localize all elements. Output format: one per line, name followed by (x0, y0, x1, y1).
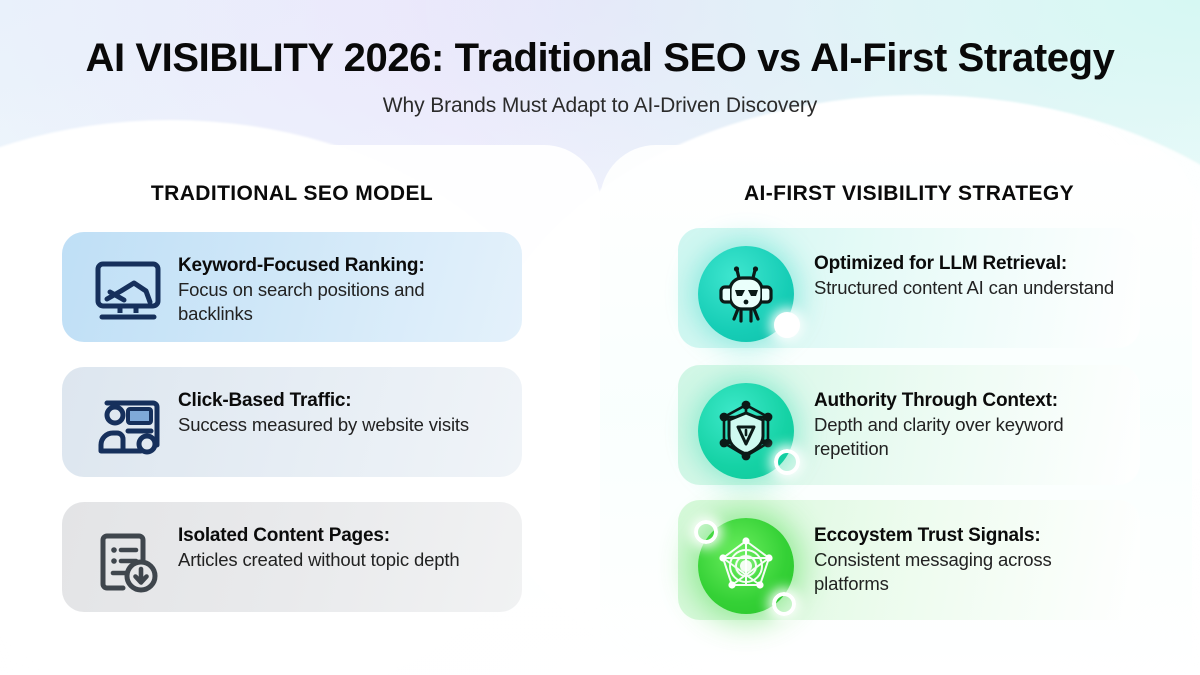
card-title: Eccoystem Trust Signals: (814, 524, 1124, 548)
document-list-download-icon (82, 522, 174, 604)
card-description: Depth and clarity over keyword repetitio… (814, 413, 1124, 462)
robot-headphones-icon (698, 246, 794, 342)
card-text: Keyword-Focused Ranking: Focus on search… (174, 252, 504, 327)
user-profile-card-icon (82, 387, 174, 469)
page-title: AI VISIBILITY 2026: Traditional SEO vs A… (0, 36, 1200, 80)
card-description: Consistent messaging across platforms (814, 548, 1124, 597)
card-text: Optimized for LLM Retrieval: Structured … (800, 242, 1124, 300)
shield-icon-wrap (692, 379, 800, 483)
card-title: Optimized for LLM Retrieval: (814, 252, 1124, 276)
card-title: Click-Based Traffic: (178, 389, 504, 413)
card-authority-through-context[interactable]: Authority Through Context: Depth and cla… (678, 365, 1140, 485)
card-description: Articles created without topic depth (178, 548, 504, 572)
card-title: Isolated Content Pages: (178, 524, 504, 548)
robot-icon-wrap (692, 242, 800, 346)
card-description: Structured content AI can understand (814, 276, 1124, 300)
header: AI VISIBILITY 2026: Traditional SEO vs A… (0, 0, 1200, 140)
card-text: Click-Based Traffic: Success measured by… (174, 387, 504, 437)
card-description: Success measured by website visits (178, 413, 504, 437)
card-keyword-focused-ranking[interactable]: Keyword-Focused Ranking: Focus on search… (62, 232, 522, 342)
card-title: Keyword-Focused Ranking: (178, 254, 504, 278)
column-heading-traditional: TRADITIONAL SEO MODEL (62, 182, 522, 206)
card-text: Isolated Content Pages: Articles created… (174, 522, 504, 572)
status-glow-dot (774, 312, 800, 338)
ecosystem-network-orbit-icon (698, 518, 794, 614)
column-heading-ai-first: AI-FIRST VISIBILITY STRATEGY (678, 182, 1140, 206)
card-optimized-llm-retrieval[interactable]: Optimized for LLM Retrieval: Structured … (678, 228, 1140, 348)
card-text: Eccoystem Trust Signals: Consistent mess… (800, 514, 1124, 597)
card-title: Authority Through Context: (814, 389, 1124, 413)
page-subtitle: Why Brands Must Adapt to AI-Driven Disco… (0, 94, 1200, 118)
card-isolated-content-pages[interactable]: Isolated Content Pages: Articles created… (62, 502, 522, 612)
status-glow-dot-top (694, 520, 718, 544)
status-glow-dot-bottom (772, 592, 796, 616)
card-description: Focus on search positions and backlinks (178, 278, 504, 327)
card-ecosystem-trust-signals[interactable]: Eccoystem Trust Signals: Consistent mess… (678, 500, 1140, 620)
status-glow-dot (774, 449, 800, 475)
card-click-based-traffic[interactable]: Click-Based Traffic: Success measured by… (62, 367, 522, 477)
ecosystem-icon-wrap (692, 514, 800, 618)
monitor-declining-chart-icon (82, 252, 174, 334)
card-text: Authority Through Context: Depth and cla… (800, 379, 1124, 462)
shield-network-icon (698, 383, 794, 479)
